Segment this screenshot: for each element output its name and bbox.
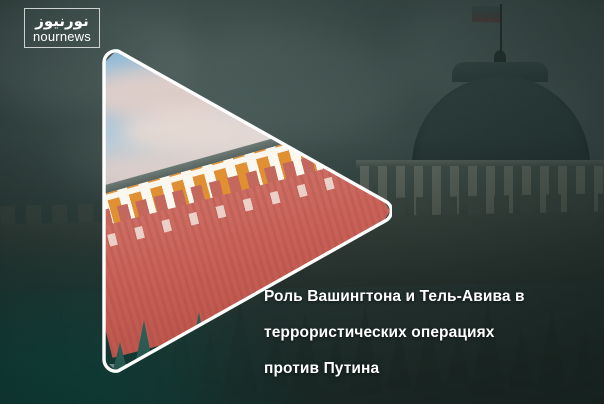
fir-tree	[110, 342, 130, 376]
headline-line-3: против Путина	[264, 351, 594, 387]
fir-tree	[130, 320, 158, 376]
fir-tree	[160, 338, 182, 376]
headline-line-1: Роль Вашингтона и Тель-Авива в	[264, 279, 594, 315]
fir-tree	[100, 330, 112, 376]
logo-persian-text: نورنیوز	[33, 13, 91, 29]
fir-tree	[184, 312, 214, 376]
news-poster: نورنیوز nournews Роль Вашингтона и Тель-…	[0, 0, 604, 404]
nournews-logo[interactable]: نورنیوز nournews	[24, 8, 100, 48]
logo-latin-text: nournews	[33, 30, 91, 44]
headline-line-2: террористических операциях	[264, 315, 594, 351]
headline: Роль Вашингтона и Тель-Авива в террорист…	[264, 279, 594, 387]
fir-tree	[216, 336, 238, 376]
photo-cloud	[210, 64, 380, 110]
